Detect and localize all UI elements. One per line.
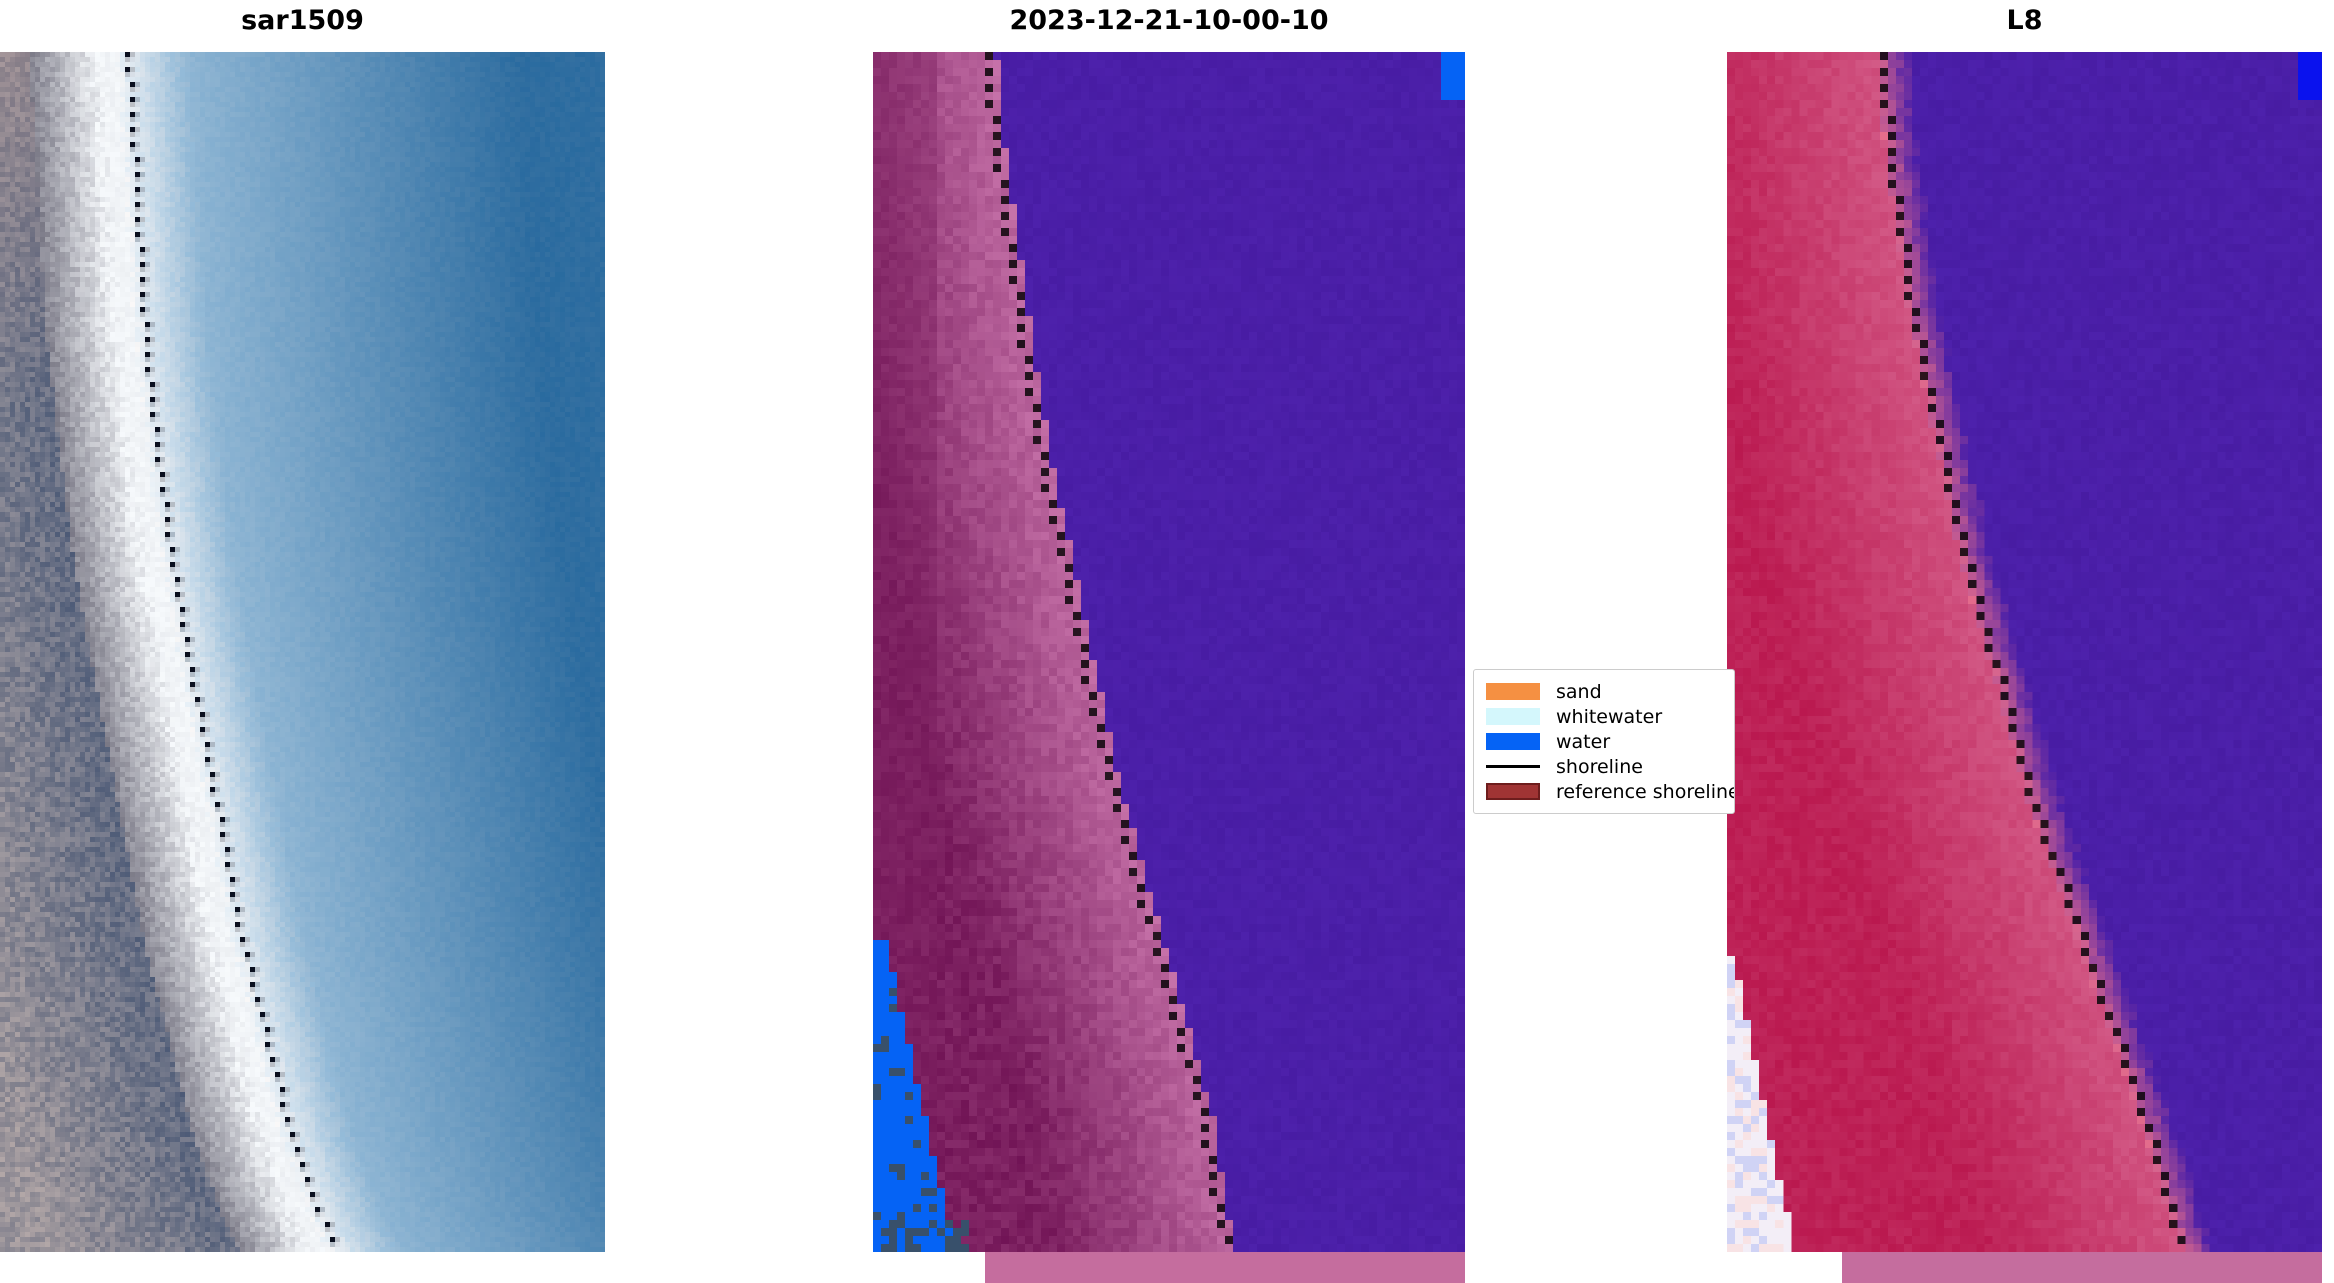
- panel-title-sar: sar1509: [0, 4, 605, 38]
- legend-box: sand whitewater water shoreline referenc…: [1473, 669, 1735, 814]
- panel-l8-image[interactable]: [1727, 52, 2322, 1252]
- legend-item-sand[interactable]: sand: [1486, 679, 1724, 704]
- figure-canvas: sar1509 2023-12-21-10-00-10 L8 sand whit…: [0, 0, 2334, 1283]
- legend-label-water: water: [1556, 731, 1610, 753]
- legend-item-whitewater[interactable]: whitewater: [1486, 704, 1724, 729]
- legend-label-shoreline: shoreline: [1556, 756, 1643, 778]
- legend-item-reference-shoreline[interactable]: reference shoreline: [1486, 779, 1724, 804]
- whitewater-swatch-icon: [1486, 708, 1540, 725]
- sand-swatch-icon: [1486, 683, 1540, 700]
- water-swatch-icon: [1486, 733, 1540, 750]
- panel-sar-image[interactable]: [0, 52, 605, 1252]
- classified-raster: [873, 52, 1465, 1252]
- shoreline-line-icon: [1486, 765, 1540, 768]
- reference-shoreline-band-classified: [985, 1252, 1465, 1283]
- l8-raster: [1727, 52, 2322, 1252]
- reference-shoreline-swatch-icon: [1486, 783, 1540, 800]
- panel-title-l8: L8: [1727, 4, 2322, 38]
- reference-shoreline-band-l8: [1842, 1252, 2322, 1283]
- sar-raster: [0, 52, 605, 1252]
- legend-item-water[interactable]: water: [1486, 729, 1724, 754]
- legend-label-whitewater: whitewater: [1556, 706, 1662, 728]
- legend-label-reference-shoreline: reference shoreline: [1556, 781, 1735, 803]
- legend-label-sand: sand: [1556, 681, 1602, 703]
- legend-item-shoreline[interactable]: shoreline: [1486, 754, 1724, 779]
- panel-title-classified: 2023-12-21-10-00-10: [873, 4, 1465, 38]
- panel-classified-image[interactable]: [873, 52, 1465, 1252]
